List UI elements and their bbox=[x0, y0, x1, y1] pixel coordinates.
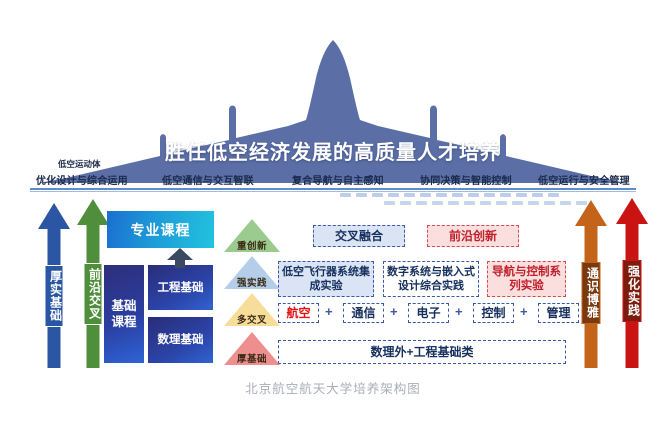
crossover-box-4[interactable]: 控制 bbox=[473, 303, 514, 323]
arrow-general-liberal: 通识博雅 bbox=[569, 200, 613, 368]
crossover-plus-3: + bbox=[455, 304, 463, 319]
course-box-engineering[interactable]: 工程基础 bbox=[148, 265, 213, 310]
header-item-5: 低空运行与安全管理 bbox=[538, 172, 630, 187]
crossover-plus-1: + bbox=[325, 304, 333, 319]
arrow-label-frontier-crossover: 前沿交叉 bbox=[84, 263, 103, 325]
diagram-canvas: 胜任低空经济发展的高质量人才培养 低空运动体 优化设计与综合运用 低空通信与交互… bbox=[0, 0, 666, 444]
crossover-box-5[interactable]: 管理 bbox=[538, 303, 579, 323]
header-item-3: 复合导航与自主感知 bbox=[292, 172, 384, 187]
figure-caption: 北京航空航天大学培养架构图 bbox=[0, 378, 666, 397]
innovation-box-2[interactable]: 前沿创新 bbox=[427, 225, 519, 247]
header-item-1: 优化设计与综合运用 bbox=[36, 172, 128, 187]
tier-label-practice: 强实践 bbox=[224, 275, 280, 289]
course-box-math[interactable]: 数理基础 bbox=[148, 317, 213, 363]
crossover-box-2[interactable]: 通信 bbox=[343, 303, 384, 323]
tier-label-innovation: 重创新 bbox=[224, 238, 280, 252]
course-box-basic[interactable]: 基础课程 bbox=[104, 265, 144, 363]
arrow-label-solid-foundation: 厚实基础 bbox=[45, 265, 64, 327]
foundation-box[interactable]: 数理外+工程基础类 bbox=[278, 340, 566, 364]
header-item-4: 协同决策与智能控制 bbox=[420, 172, 512, 187]
course-box-basic-label: 基础课程 bbox=[111, 298, 137, 330]
crossover-plus-4: + bbox=[520, 304, 528, 319]
practice-box-3[interactable]: 导航与控制系列实验 bbox=[487, 261, 566, 297]
arrow-label-general-liberal: 通识博雅 bbox=[582, 262, 601, 324]
course-box-major[interactable]: 专业课程 bbox=[107, 211, 214, 248]
arrow-strengthen-practice: 强化实践 bbox=[610, 198, 654, 368]
tier-practice: 强实践 bbox=[224, 256, 280, 290]
practice-box-2[interactable]: 数字系统与嵌入式设计综合实践 bbox=[383, 261, 479, 297]
crossover-box-3[interactable]: 电子 bbox=[408, 303, 449, 323]
crossover-box-1[interactable]: 航空 bbox=[278, 303, 319, 323]
tier-label-foundation: 厚基础 bbox=[224, 351, 280, 365]
tier-crossover: 多交叉 bbox=[224, 293, 280, 327]
header-strip: 低空运动体 优化设计与综合运用 低空通信与交互智联 复合导航与自主感知 协同决策… bbox=[30, 160, 636, 192]
tier-foundation: 厚基础 bbox=[224, 332, 280, 366]
upward-arrow-icon bbox=[165, 248, 195, 268]
header-item-2: 低空通信与交互智联 bbox=[162, 172, 254, 187]
header-rule-secondary bbox=[30, 191, 636, 192]
header-small-label: 低空运动体 bbox=[58, 158, 101, 170]
practice-box-1[interactable]: 低空飞行器系统集成实验 bbox=[278, 261, 374, 297]
tier-innovation: 重创新 bbox=[224, 219, 280, 253]
tier-label-crossover: 多交叉 bbox=[224, 312, 280, 326]
arrow-label-strengthen-practice: 强化实践 bbox=[623, 260, 642, 322]
arrow-solid-foundation: 厚实基础 bbox=[32, 203, 76, 368]
header-rule bbox=[30, 188, 636, 190]
innovation-box-1[interactable]: 交叉融合 bbox=[313, 225, 405, 247]
crossover-plus-2: + bbox=[390, 304, 398, 319]
